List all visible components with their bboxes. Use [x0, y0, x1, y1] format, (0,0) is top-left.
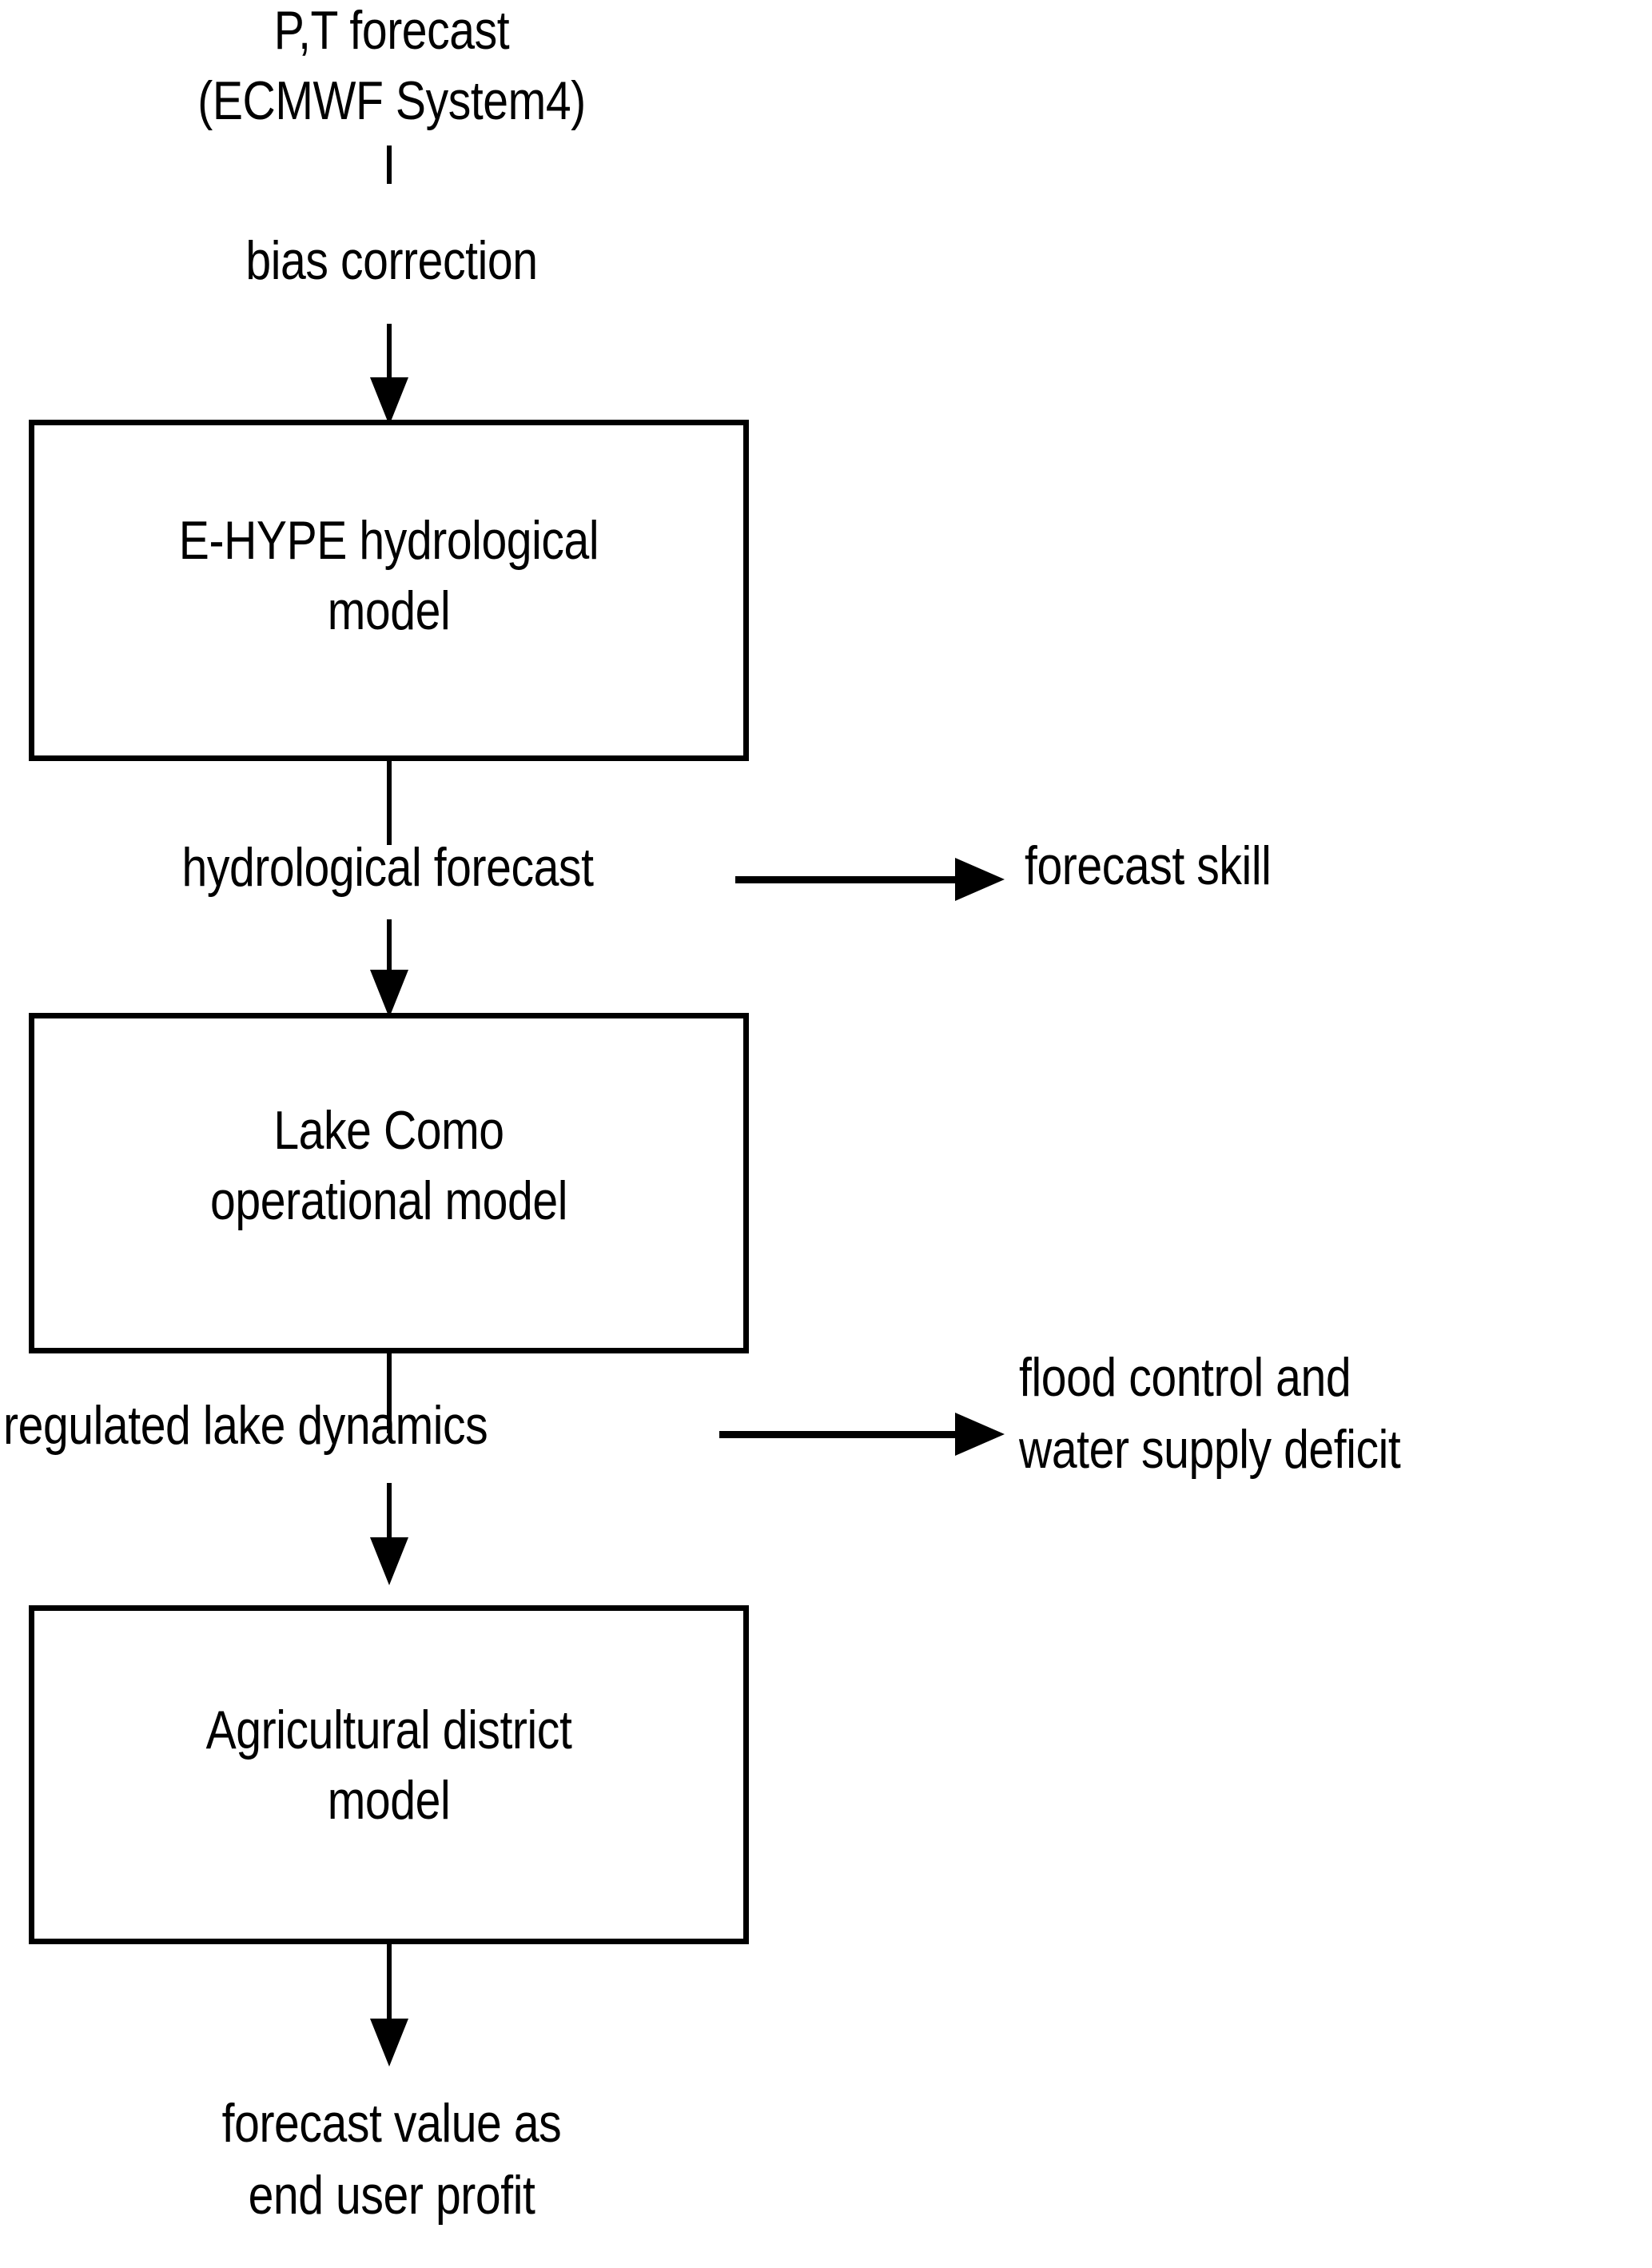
node-label-e-hype: E-HYPE hydrological model — [91, 505, 687, 646]
edge-label-bias-correction: bias correction — [62, 226, 720, 295]
source-node-line2: (ECMWF System4) — [62, 66, 720, 135]
edge-label-regulated-lake-dynamics: regulated lake dynamics — [3, 1391, 675, 1460]
node-label-agricultural-district: Agricultural district model — [91, 1695, 687, 1836]
source-node-line1: P,T forecast — [62, 0, 720, 65]
edge-label-hydrological-forecast: hydrological forecast — [62, 833, 714, 902]
connector-line-to-forecast-skill — [735, 876, 959, 883]
node-label-lake-como: Lake Como operational model — [91, 1095, 687, 1236]
arrowhead-to-flood-control — [955, 1413, 1005, 1456]
output-flood-control-line1: flood control and — [1019, 1343, 1610, 1412]
output-forecast-skill: forecast skill — [1025, 831, 1495, 900]
arrowhead-to-agricultural — [370, 1537, 408, 1585]
output-forecast-value-line1: forecast value as — [62, 2089, 720, 2158]
output-forecast-value-line2: end user profit — [62, 2161, 720, 2230]
connector-stub-source — [387, 145, 392, 184]
flowchart-canvas: P,T forecast (ECMWF System4) bias correc… — [0, 0, 1652, 2268]
node-box-e-hype[interactable]: E-HYPE hydrological model — [29, 420, 749, 761]
output-flood-control-line2: water supply deficit — [1019, 1415, 1610, 1484]
connector-line-to-flood-control — [719, 1431, 959, 1438]
node-box-lake-como[interactable]: Lake Como operational model — [29, 1013, 749, 1353]
arrowhead-to-forecast-value — [370, 2019, 408, 2067]
arrowhead-to-ehype — [370, 377, 408, 425]
arrowhead-to-lake-como — [370, 970, 408, 1018]
arrowhead-to-forecast-skill — [955, 858, 1005, 901]
node-box-agricultural-district[interactable]: Agricultural district model — [29, 1605, 749, 1944]
